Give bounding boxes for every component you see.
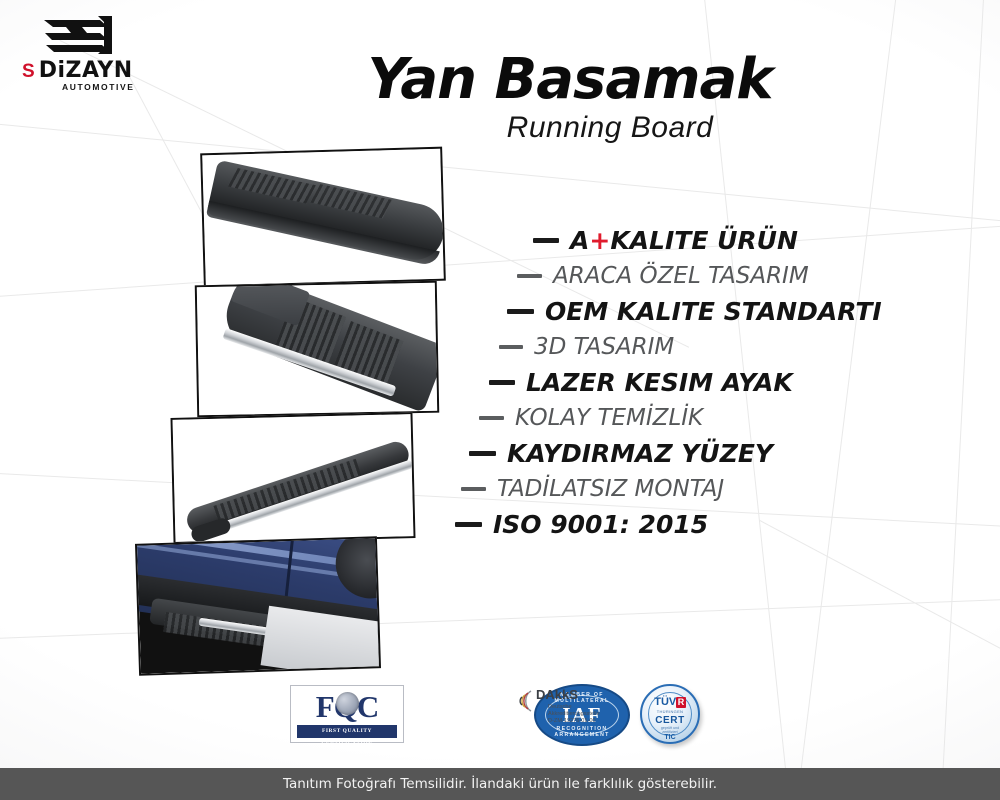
footer-disclaimer: Tanıtım Fotoğrafı Temsilidir. İlandaki ü… [0,768,1000,800]
dakks-subtitle: Deutsche Akkreditierungsstelle D-ZM-1927… [548,704,600,726]
feature-label: TADİLATSIZ MONTAJ [497,478,724,501]
feature-dash-icon [469,451,496,456]
tuv-region: THÜRINGEN [642,709,698,714]
certification-logos: FQC FIRST QUALITY CERTIFICATION MEMBER O… [290,682,720,744]
feature-item: ISO 9001: 2015 [455,506,925,543]
product-photo-4[interactable] [135,536,381,676]
feature-label: 3D TASARIM [534,336,674,359]
feature-label: KOLAY TEMİZLİK [515,407,703,430]
feature-dash-icon [517,274,542,278]
feature-item: 3D TASARIM [499,330,925,364]
dakks-name: DAkkS [536,688,578,702]
globe-icon [336,692,359,715]
brand-logo: S DiZAYN AUTOMOTIVE [22,14,172,94]
feature-item: ARACA ÖZEL TASARIM [517,259,925,293]
brand-wordmark: S DiZAYN [22,60,133,82]
feature-item: A+KALITE ÜRÜN [533,222,925,259]
feature-dash-icon [489,380,515,385]
product-photo-1[interactable] [200,147,446,288]
feature-highlight: + [589,226,610,255]
feature-label: KAYDIRMAZ YÜZEY [507,441,773,466]
fqc-caption: FIRST QUALITY CERTIFICATION [297,725,397,738]
s-dizayn-logo-mark [38,14,118,58]
feature-item: LAZER KESIM AYAK [489,364,925,401]
tuv-registered-badge: R [676,697,686,708]
feature-dash-icon [533,238,559,243]
cert-tuv: TÜVR THÜRINGEN CERT geprüft und zertifiz… [638,682,702,744]
tuv-cert-label: CERT [642,715,698,726]
feature-item: OEM KALITE STANDARTI [507,293,925,330]
feature-item: KAYDIRMAZ YÜZEY [469,435,925,472]
poster-canvas: S DiZAYN AUTOMOTIVE Yan Basamak Running … [0,0,1000,800]
brand-tagline: AUTOMOTIVE [62,82,135,92]
feature-item: KOLAY TEMİZLİK [479,401,925,435]
tuv-bottom-label: TIC [642,734,698,741]
feature-label: A+KALITE ÜRÜN [570,228,798,253]
page-title: Yan Basamak [300,52,840,108]
brand-s-badge: S [22,62,34,81]
feature-label: ISO 9001: 2015 [493,512,708,537]
feature-dash-icon [507,309,534,314]
feature-item: TADİLATSIZ MONTAJ [461,472,925,506]
product-photo-2[interactable] [195,281,439,418]
cert-iaf: MEMBER OF MULTILATERAL IAF RECOGNITION A… [412,682,504,744]
tuv-letters: TÜVR [642,697,698,708]
feature-list: A+KALITE ÜRÜNARACA ÖZEL TASARIMOEM KALIT… [455,222,925,543]
cert-fqc: FQC FIRST QUALITY CERTIFICATION [290,682,402,744]
brand-name: DiZAYN [39,60,133,82]
page-subtitle: Running Board [330,113,890,143]
feature-label: LAZER KESIM AYAK [526,370,793,395]
dakks-waves-icon [518,690,534,712]
feature-label: OEM KALITE STANDARTI [545,299,882,324]
feature-dash-icon [479,416,504,420]
product-photo-3[interactable] [170,412,415,544]
feature-dash-icon [455,522,482,527]
feature-dash-icon [499,345,523,349]
cert-dakks: DAkkS Deutsche Akkreditierungsstelle D-Z… [518,688,630,750]
feature-label: ARACA ÖZEL TASARIM [553,265,809,288]
feature-dash-icon [461,487,486,491]
